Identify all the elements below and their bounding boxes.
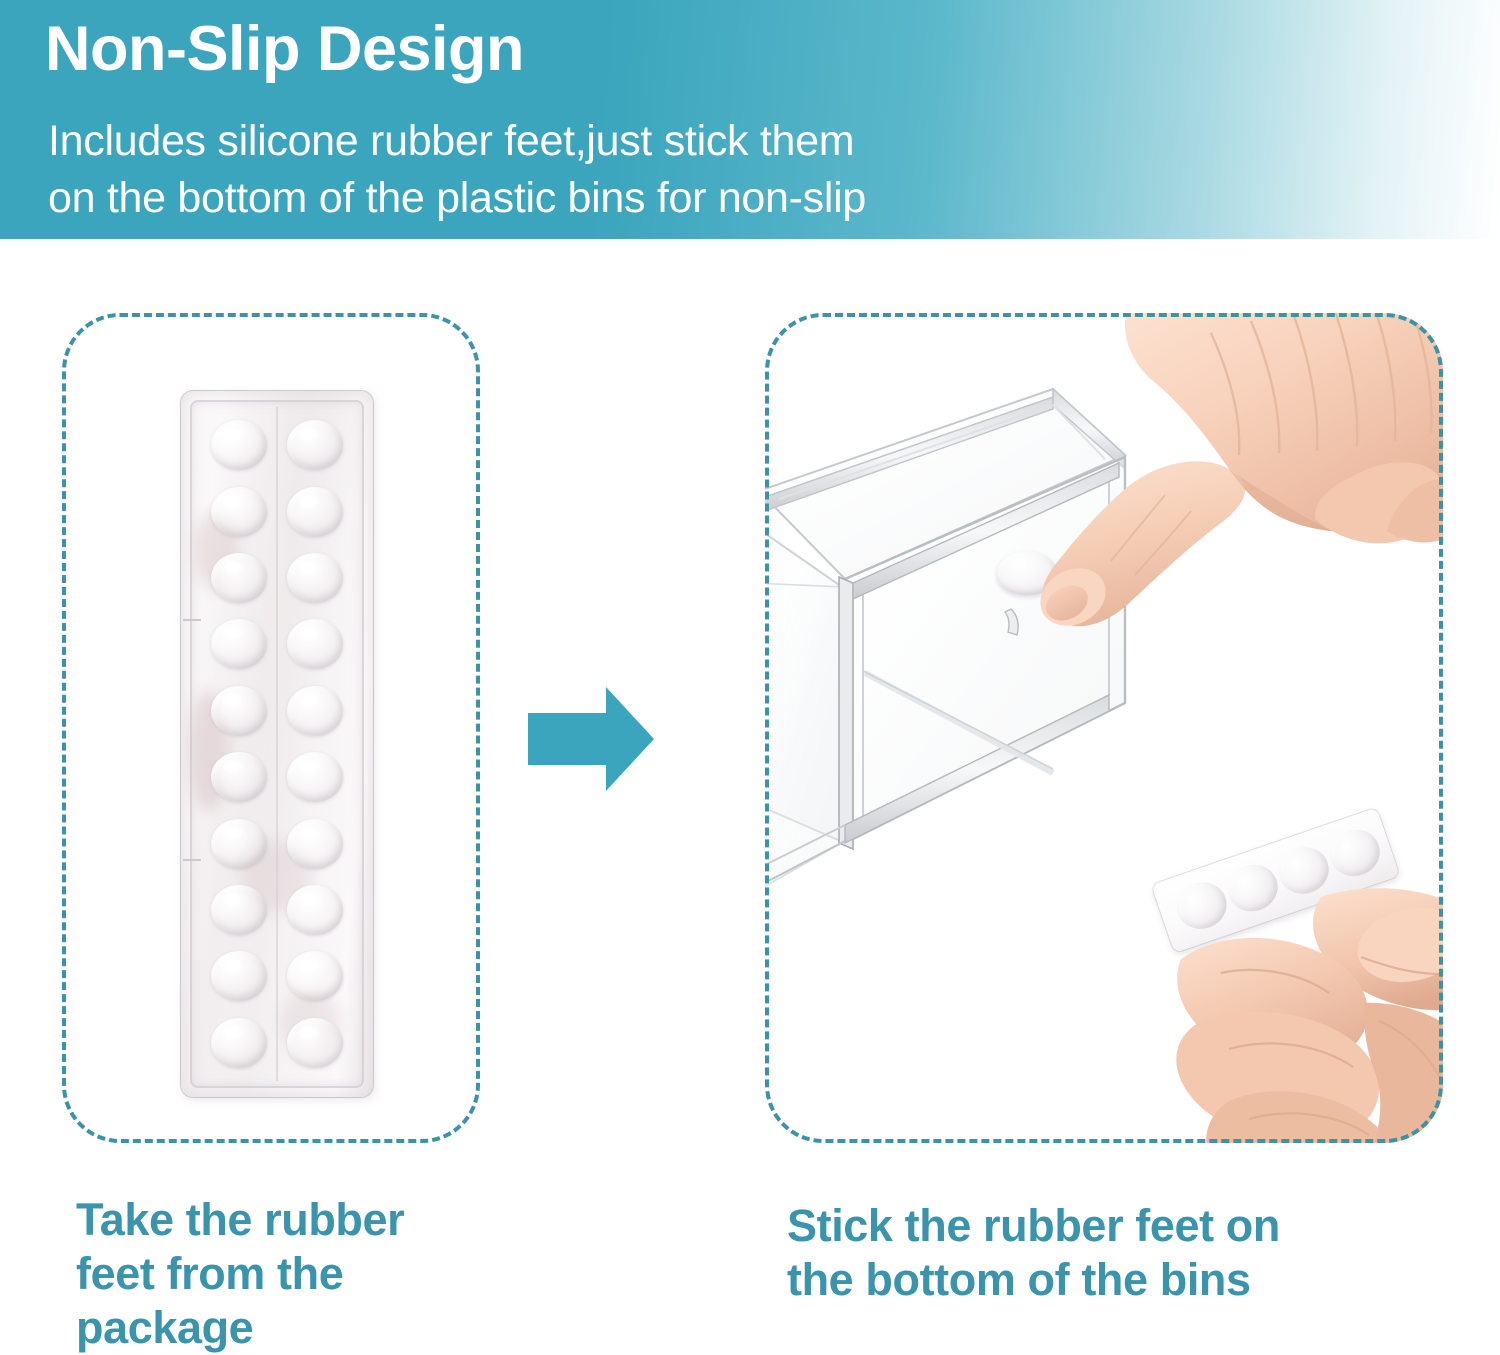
- rubber-foot-dome: [287, 951, 343, 1001]
- caption-left: Take the rubber feet from the package: [76, 1193, 546, 1355]
- rubber-foot-cell: [203, 944, 275, 1008]
- header-banner: Non-Slip Design Includes silicone rubber…: [0, 0, 1500, 239]
- rubber-foot-cell: [203, 811, 275, 875]
- rubber-foot-cell: [203, 745, 275, 809]
- rubber-foot-dome: [211, 553, 267, 603]
- rubber-foot-dome: [211, 420, 267, 470]
- rubber-foot-dome: [211, 885, 267, 935]
- blister-perforation: [183, 859, 201, 861]
- rubber-foot-dome: [211, 487, 267, 537]
- rubber-foot-dome: [287, 885, 343, 935]
- rubber-foot-dome: [287, 553, 343, 603]
- rubber-foot-dome: [287, 487, 343, 537]
- rubber-foot-cell: [279, 878, 351, 942]
- rubber-foot-cell: [279, 546, 351, 610]
- rubber-foot-cell: [203, 612, 275, 676]
- rubber-foot-cell: [279, 612, 351, 676]
- rubber-foot-cell: [203, 479, 275, 543]
- rubber-foot-dome: [287, 619, 343, 669]
- rubber-foot-cell: [279, 479, 351, 543]
- rubber-foot-dome: [211, 619, 267, 669]
- rubber-foot-dome: [211, 686, 267, 736]
- rubber-foot-cell: [203, 546, 275, 610]
- rubber-foot-cell: [279, 745, 351, 809]
- rubber-foot-dome: [211, 752, 267, 802]
- rubber-foot-cell: [279, 1011, 351, 1075]
- rubber-foot-cell: [279, 944, 351, 1008]
- rubber-foot-dome: [287, 686, 343, 736]
- panel-right-dashed-frame: [765, 313, 1443, 1143]
- rubber-foot-cell: [203, 679, 275, 743]
- rubber-foot-cell: [203, 1011, 275, 1075]
- blister-perforation: [183, 619, 201, 621]
- header-subtitle: Includes silicone rubber feet,just stick…: [48, 113, 866, 227]
- rubber-foot-dome: [211, 951, 267, 1001]
- rubber-foot-dome: [287, 1018, 343, 1068]
- caption-right: Stick the rubber feet on the bottom of t…: [787, 1199, 1447, 1307]
- rubber-foot-cell: [279, 413, 351, 477]
- rubber-foot-dome: [287, 752, 343, 802]
- rubber-foot-dome: [287, 420, 343, 470]
- rubber-foot-dome: [211, 819, 267, 869]
- rubber-foot-dome: [287, 819, 343, 869]
- rubber-foot-cell: [203, 878, 275, 942]
- process-flow-arrow-icon: [528, 687, 654, 791]
- blister-pack-image: [181, 391, 373, 1097]
- page-title: Non-Slip Design: [45, 15, 524, 84]
- rubber-foot-cell: [279, 679, 351, 743]
- rubber-foot-cell: [279, 811, 351, 875]
- rubber-foot-dome: [211, 1018, 267, 1068]
- rubber-feet-grid: [203, 413, 351, 1075]
- rubber-foot-cell: [203, 413, 275, 477]
